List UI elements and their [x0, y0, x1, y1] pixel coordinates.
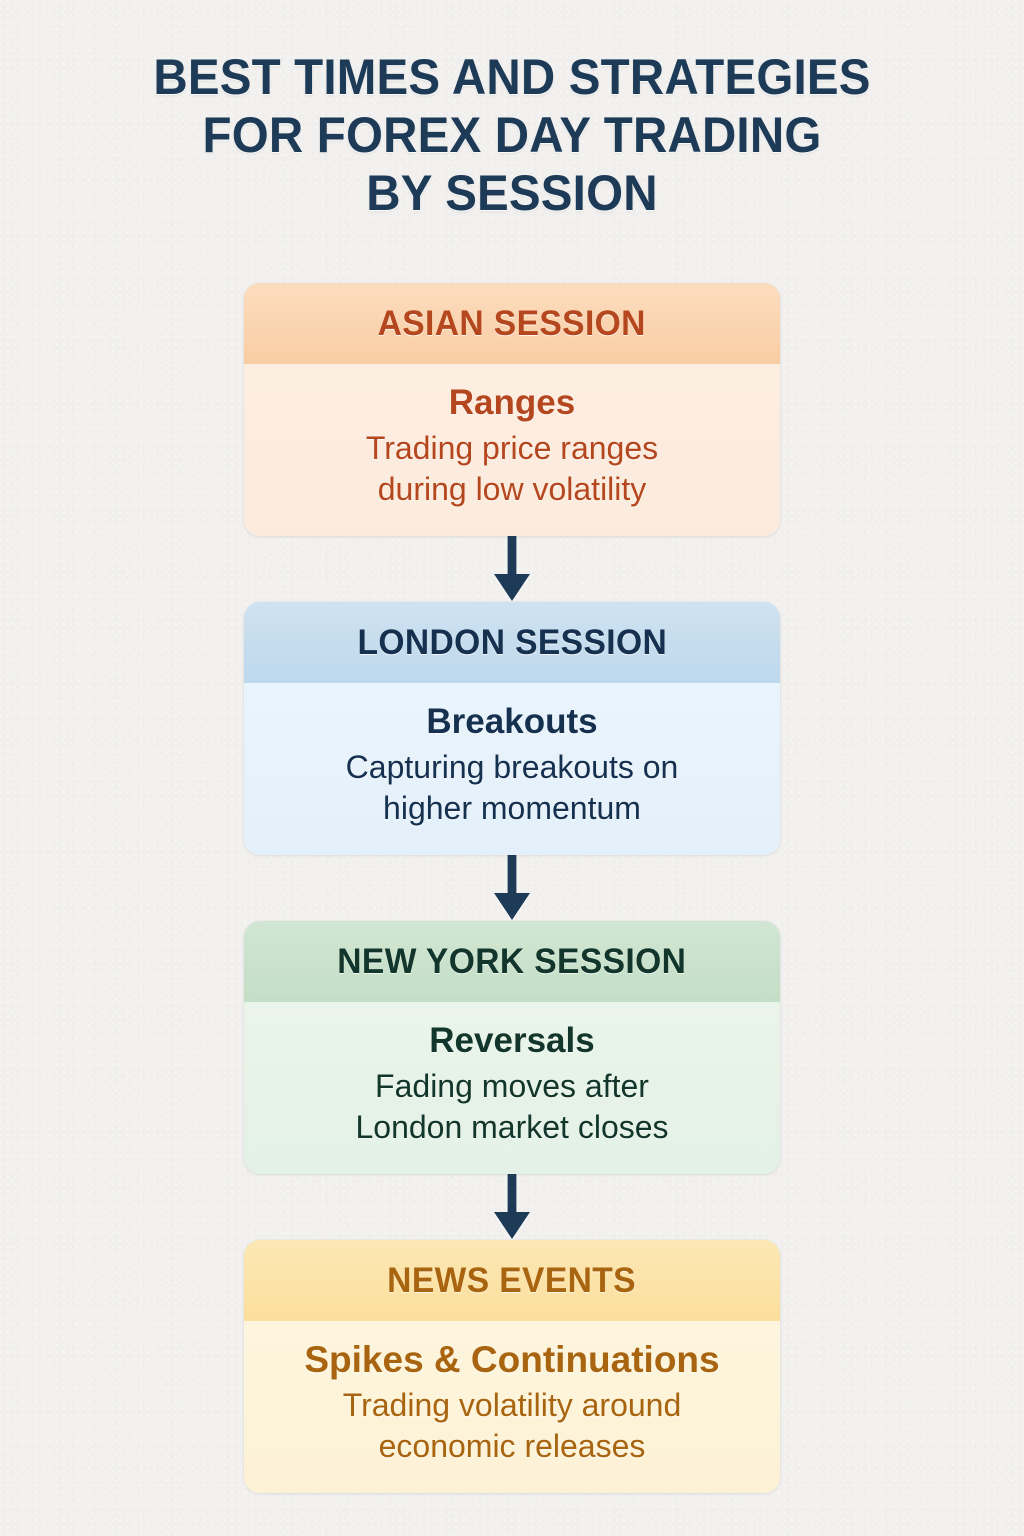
card-strategy-name: Breakouts	[262, 699, 762, 745]
card-description: Capturing breakouts on higher momentum	[262, 747, 762, 829]
card-description-line-2: higher momentum	[262, 788, 762, 829]
arrow-down-icon	[493, 536, 531, 602]
infographic-page: BEST TIMES AND STRATEGIES FOR FOREX DAY …	[0, 0, 1024, 1536]
card-strategy-name: Ranges	[262, 380, 762, 426]
arrow-down-icon	[493, 1174, 531, 1240]
card-body-london-session: Breakouts Capturing breakouts on higher …	[244, 683, 780, 855]
card-header-label: NEW YORK SESSION	[337, 942, 686, 982]
flow-connector-1	[244, 536, 780, 602]
card-london-session[interactable]: LONDON SESSION Breakouts Capturing break…	[244, 602, 780, 855]
card-header-new-york-session: NEW YORK SESSION	[244, 921, 780, 1002]
card-description: Trading volatility around economic relea…	[262, 1385, 762, 1467]
card-header-london-session: LONDON SESSION	[244, 602, 780, 683]
card-body-new-york-session: Reversals Fading moves after London mark…	[244, 1002, 780, 1174]
card-description: Trading price ranges during low volatili…	[262, 428, 762, 510]
card-header-label: ASIAN SESSION	[378, 304, 646, 344]
card-strategy-name: Spikes & Continuations	[262, 1337, 762, 1383]
card-description-line-2: London market closes	[262, 1107, 762, 1148]
page-title-line-1: BEST TIMES AND STRATEGIES	[26, 48, 999, 106]
session-flow-list: ASIAN SESSION Ranges Trading price range…	[244, 283, 780, 1493]
card-description-line-1: Trading price ranges	[366, 430, 658, 466]
card-description-line-1: Fading moves after	[375, 1068, 649, 1104]
card-strategy-name: Reversals	[262, 1018, 762, 1064]
flow-connector-3	[244, 1174, 780, 1240]
card-description: Fading moves after London market closes	[262, 1066, 762, 1148]
arrow-down-icon	[493, 855, 531, 921]
page-title: BEST TIMES AND STRATEGIES FOR FOREX DAY …	[0, 48, 1024, 222]
card-new-york-session[interactable]: NEW YORK SESSION Reversals Fading moves …	[244, 921, 780, 1174]
card-header-news-events: NEWS EVENTS	[244, 1240, 780, 1321]
card-header-label: NEWS EVENTS	[388, 1261, 637, 1301]
page-title-line-2: FOR FOREX DAY TRADING	[26, 106, 999, 164]
card-header-label: LONDON SESSION	[357, 623, 667, 663]
flow-connector-2	[244, 855, 780, 921]
card-description-line-2: during low volatility	[262, 469, 762, 510]
card-description-line-2: economic releases	[262, 1426, 762, 1467]
card-description-line-1: Trading volatility around	[343, 1387, 682, 1423]
card-news-events[interactable]: NEWS EVENTS Spikes & Continuations Tradi…	[244, 1240, 780, 1493]
card-asian-session[interactable]: ASIAN SESSION Ranges Trading price range…	[244, 283, 780, 536]
card-body-news-events: Spikes & Continuations Trading volatilit…	[244, 1321, 780, 1493]
page-title-line-3: BY SESSION	[26, 164, 999, 222]
card-body-asian-session: Ranges Trading price ranges during low v…	[244, 364, 780, 536]
card-header-asian-session: ASIAN SESSION	[244, 283, 780, 364]
card-description-line-1: Capturing breakouts on	[346, 749, 679, 785]
